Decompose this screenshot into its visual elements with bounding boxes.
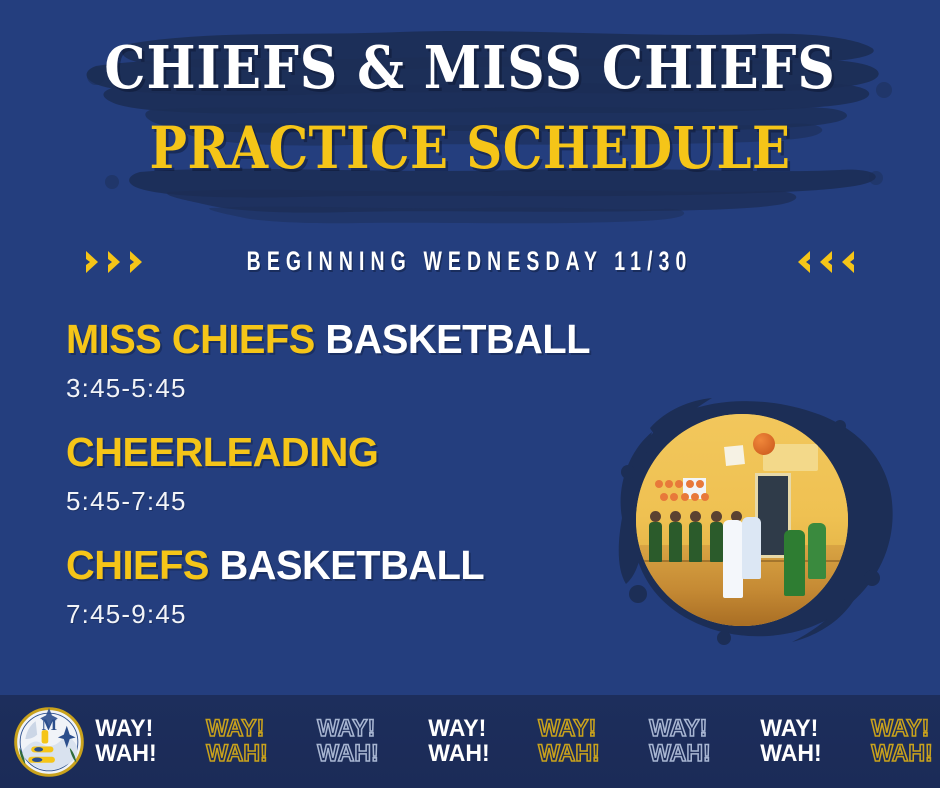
chant-item: WAY! WAH!	[650, 717, 711, 766]
schedule-item-title: CHEERLEADING	[66, 431, 687, 474]
beginning-date-text: BEGINNING WEDNESDAY 11/30	[247, 246, 693, 277]
schedule-item-rest: BASKETBALL	[315, 316, 590, 362]
schedule-item-highlight: CHIEFS	[66, 542, 209, 588]
schedule-item-title: CHIEFS BASKETBALL	[66, 544, 687, 587]
schedule-item-time: 5:45-7:45	[66, 485, 706, 518]
beginning-banner: BEGINNING WEDNESDAY 11/30	[0, 246, 940, 277]
chant-strip: WAY! WAH! WAY! WAH! WAY! WAH! WAY! WAH! …	[94, 717, 940, 766]
schedule-item-time: 7:45-9:45	[66, 598, 706, 631]
schedule-item-miss-chiefs-basketball: MISS CHIEFS BASKETBALL 3:45-5:45	[66, 318, 706, 405]
chant-item: WAY! WAH!	[317, 717, 378, 766]
practice-schedule-poster: CHIEFS & MISS CHIEFS PRACTICE SCHEDULE B…	[0, 0, 940, 788]
schedule-item-time: 3:45-5:45	[66, 372, 706, 405]
schedule-item-chiefs-basketball: CHIEFS BASKETBALL 7:45-9:45	[66, 544, 706, 631]
schedule-item-highlight: CHEERLEADING	[66, 429, 378, 475]
schedule-item-cheerleading: CHEERLEADING 5:45-7:45	[66, 431, 706, 518]
chant-item: WAY! WAH!	[871, 717, 932, 766]
schedule-item-highlight: MISS CHIEFS	[66, 316, 315, 362]
chevron-left-triple-icon	[790, 249, 856, 275]
schedule-item-title: MISS CHIEFS BASKETBALL	[66, 318, 687, 361]
chevron-right-triple-icon	[84, 249, 150, 275]
schedule-list: MISS CHIEFS BASKETBALL 3:45-5:45 CHEERLE…	[66, 318, 706, 631]
page-title: CHIEFS & MISS CHIEFS PRACTICE SCHEDULE	[0, 38, 940, 177]
footer-banner: M WAY! WAH! WAY! WAH! WAY! WAH! WAY! WAH…	[0, 695, 940, 788]
chant-item: WAY! WAH!	[760, 717, 821, 766]
chant-item: WAY! WAH!	[95, 717, 156, 766]
chant-item: WAY! WAH!	[428, 717, 489, 766]
schedule-item-rest: BASKETBALL	[209, 542, 484, 588]
chant-item: WAY! WAH!	[539, 717, 600, 766]
chant-item: WAY! WAH!	[206, 717, 267, 766]
chiefs-circular-logo-icon: M	[12, 705, 86, 779]
svg-text:M: M	[42, 715, 57, 734]
title-line-1: CHIEFS & MISS CHIEFS	[56, 38, 883, 97]
title-line-2: PRACTICE SCHEDULE	[66, 119, 874, 177]
